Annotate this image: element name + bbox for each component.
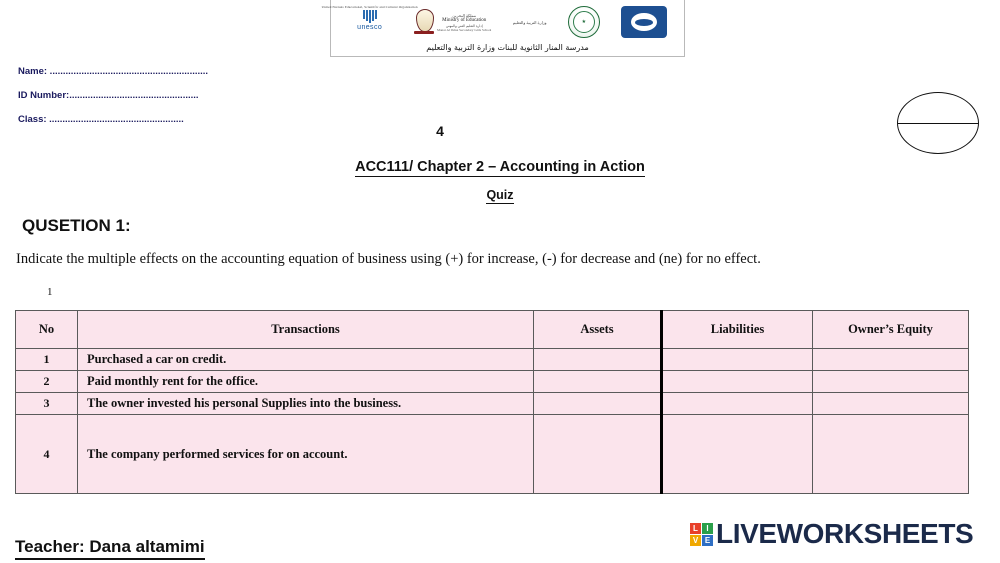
school-seal-mark: ★ — [573, 11, 595, 33]
document-header-band: United Nations Educational, Scientific a… — [330, 0, 685, 57]
grade-circle-stamp — [897, 92, 979, 154]
table-row: 2 Paid monthly rent for the office. — [16, 371, 969, 393]
ministry-arabic-logo: وزارة التربية والتعليم — [513, 20, 547, 25]
lw-tile-l: L — [690, 523, 701, 534]
unesco-temple-icon — [363, 10, 377, 23]
row-number: 4 — [16, 415, 78, 494]
ministry-of-education-logo: مملكة البحرين Ministry of Education إدار… — [413, 7, 491, 37]
column-header-transactions: Transactions — [78, 311, 534, 349]
row-assets-answer[interactable] — [534, 349, 662, 371]
table-row: 3 The owner invested his personal Suppli… — [16, 393, 969, 415]
row-liabilities-answer[interactable] — [662, 415, 813, 494]
unesco-logo: United Nations Educational, Scientific a… — [348, 5, 392, 39]
answer-table: No Transactions Assets Liabilities Owner… — [15, 310, 969, 494]
unesco-wordmark: unesco — [357, 24, 382, 31]
row-transaction: Paid monthly rent for the office. — [78, 371, 534, 393]
ministry-sub-english: Manar Al Ibdaa Secondary Girls School — [437, 28, 491, 32]
bahrain-emblem-icon — [631, 13, 657, 31]
page-number: 4 — [0, 123, 880, 139]
row-liabilities-answer[interactable] — [662, 349, 813, 371]
unesco-logo-caption: United Nations Educational, Scientific a… — [322, 5, 418, 9]
row-owners-equity-answer[interactable] — [813, 349, 969, 371]
liveworksheets-watermark: L I V E LIVEWORKSHEETS — [690, 518, 973, 550]
header-logo-row: United Nations Educational, Scientific a… — [331, 3, 684, 41]
liveworksheets-tiles-icon: L I V E — [690, 523, 713, 546]
row-owners-equity-answer[interactable] — [813, 415, 969, 494]
grade-circle-divider — [898, 123, 978, 124]
ministry-logo-text: مملكة البحرين Ministry of Education إدار… — [437, 13, 491, 32]
course-title-text: ACC111/ Chapter 2 – Accounting in Action — [355, 159, 645, 177]
row-assets-answer[interactable] — [534, 393, 662, 415]
row-transaction: The owner invested his personal Supplies… — [78, 393, 534, 415]
column-header-liabilities: Liabilities — [662, 311, 813, 349]
quiz-title-text: Quiz — [486, 188, 513, 204]
table-row: 4 The company performed services for on … — [16, 415, 969, 494]
question-prompt: Indicate the multiple effects on the acc… — [16, 250, 984, 268]
bahrain-emblem-logo — [621, 6, 667, 38]
row-owners-equity-answer[interactable] — [813, 393, 969, 415]
question-heading: QUSETION 1: — [22, 216, 131, 236]
school-seal-logo: ★ — [568, 6, 600, 38]
row-liabilities-answer[interactable] — [662, 393, 813, 415]
row-number: 3 — [16, 393, 78, 415]
row-assets-answer[interactable] — [534, 415, 662, 494]
teacher-name: Teacher: Dana altamimi — [15, 537, 205, 560]
student-name-field[interactable]: Name: ..................................… — [18, 66, 228, 77]
ministry-crest-icon — [413, 7, 435, 37]
column-header-owners-equity: Owner’s Equity — [813, 311, 969, 349]
header-arabic-caption: مدرسة المنار الثانوية للبنات وزارة الترب… — [331, 43, 684, 52]
row-number: 1 — [16, 349, 78, 371]
column-header-assets: Assets — [534, 311, 662, 349]
column-header-no: No — [16, 311, 78, 349]
student-id-field[interactable]: ID Number:..............................… — [18, 90, 228, 101]
quiz-title: Quiz — [0, 188, 1000, 202]
row-liabilities-answer[interactable] — [662, 371, 813, 393]
table-row: 1 Purchased a car on credit. — [16, 349, 969, 371]
liveworksheets-wordmark: LIVEWORKSHEETS — [716, 518, 973, 550]
row-number: 2 — [16, 371, 78, 393]
lw-tile-e: E — [702, 535, 713, 546]
course-title: ACC111/ Chapter 2 – Accounting in Action — [0, 159, 1000, 175]
lw-tile-v: V — [690, 535, 701, 546]
table-header-row: No Transactions Assets Liabilities Owner… — [16, 311, 969, 349]
row-transaction: The company performed services for on ac… — [78, 415, 534, 494]
stray-mark: 1 — [47, 286, 53, 298]
lw-tile-i: I — [702, 523, 713, 534]
row-transaction: Purchased a car on credit. — [78, 349, 534, 371]
row-assets-answer[interactable] — [534, 371, 662, 393]
ministry-arabic-title: وزارة التربية والتعليم — [513, 20, 547, 25]
row-owners-equity-answer[interactable] — [813, 371, 969, 393]
